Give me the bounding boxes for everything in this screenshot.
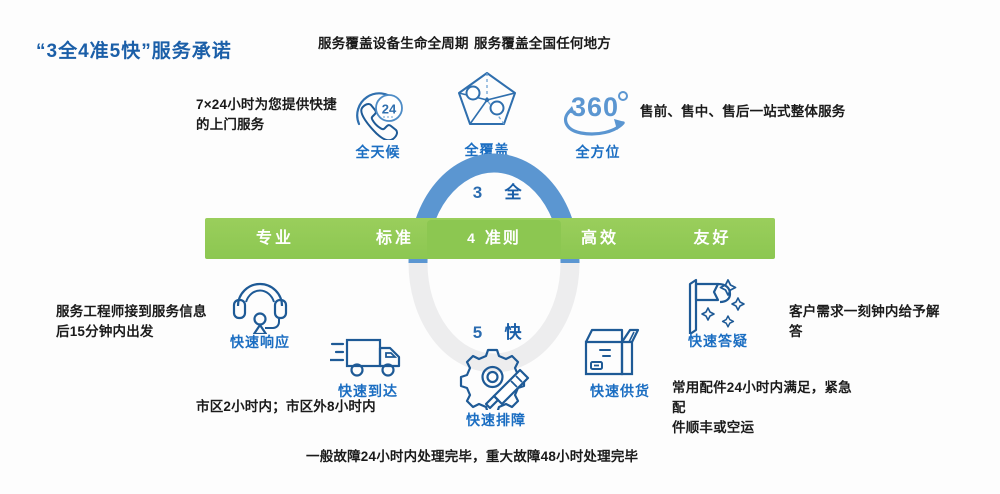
note-city-arrival: 市区2小时内；市区外8小时内 (196, 397, 376, 417)
ring-num-3: 3 (465, 183, 491, 203)
headset-icon (228, 272, 292, 334)
note-quarter-hour-answer: 客户需求一刻钟内给予解 答 (789, 302, 949, 342)
note-coverage-lifecycle: 服务覆盖设备生命全周期 (318, 34, 469, 54)
phone-24h-icon: 24 (349, 88, 407, 140)
note-coverage-nationwide: 服务覆盖全国任何地方 (474, 34, 611, 54)
bar-segment-zhuanye: 专业 (215, 218, 335, 259)
open-box-icon (580, 326, 646, 378)
ring-line-3: 3全 (408, 178, 580, 203)
ring-center-text: 准则 (485, 230, 521, 247)
bar-segment-gaoxiao: 高效 (545, 218, 655, 259)
caption-fast-repair: 快速排障 (450, 410, 542, 430)
ring-center-num: 4 (467, 230, 477, 246)
pentagon-network-icon (456, 70, 518, 128)
slide-canvas: “3全4准5快”服务承诺 服务覆盖设备生命全周期 服务覆盖全国任何地方 7×24… (0, 0, 1000, 494)
delivery-truck-icon (330, 334, 406, 382)
page-title: “3全4准5快”服务承诺 (36, 36, 232, 63)
note-fault-handling: 一般故障24小时内处理完毕，重大故障48小时处理完毕 (306, 447, 638, 467)
central-ring: 3全 5快 (408, 152, 580, 374)
note-spare-parts: 常用配件24小时内满足，紧急配 件顺丰或空运 (672, 378, 862, 438)
gear-screwdriver-icon (458, 348, 534, 410)
ring-center-chip: 4准则 (427, 220, 561, 257)
note-full-chain-service: 售前、售中、售后一站式整体服务 (640, 102, 846, 122)
360-arrow-icon: 360 (559, 88, 633, 140)
ring-line-5: 5快 (408, 318, 580, 343)
caption-fast-answer: 快速答疑 (672, 331, 764, 351)
bar-segment-youhao: 友好 (655, 218, 770, 259)
svg-text:24: 24 (382, 102, 397, 117)
ring-num-5: 5 (465, 323, 491, 343)
svg-text:360: 360 (571, 92, 619, 122)
note-dispatch-15min: 服务工程师接到服务信息 后15分钟内出发 (56, 302, 236, 342)
caption-fast-supply: 快速供货 (574, 381, 666, 401)
flag-sparkle-icon (678, 278, 748, 334)
ring-text-quan: 全 (505, 178, 524, 203)
ring-text-kuai: 快 (505, 318, 524, 343)
